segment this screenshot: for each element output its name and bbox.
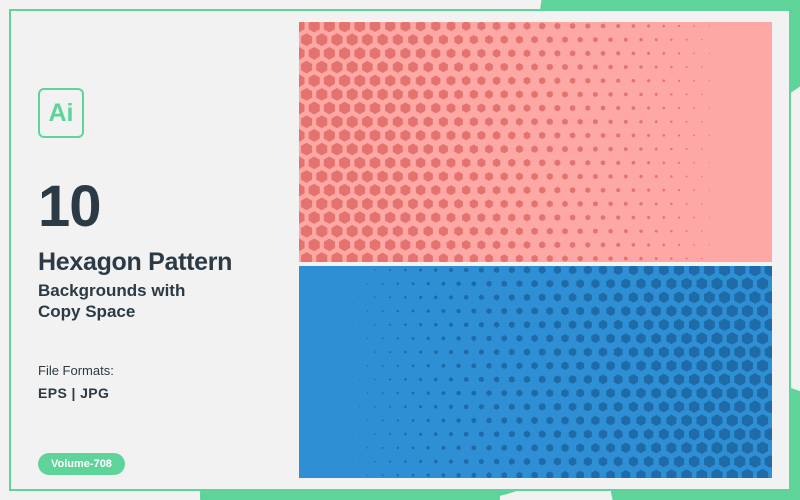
info-column: Ai 10 Hexagon Pattern Backgrounds with C…: [38, 88, 288, 475]
hexagon-dot-grid-pink: [299, 22, 772, 262]
hexagon-dot-grid-blue: [299, 266, 772, 478]
ai-badge-label: Ai: [49, 99, 74, 128]
item-count: 10: [38, 178, 288, 236]
volume-badge: Volume-708: [38, 453, 125, 475]
preview-blue-hexagon-pattern: Hexagon pattern background blue: [299, 266, 772, 478]
page-subtitle-line2: Copy Space: [38, 301, 288, 322]
file-formats-value: EPS | JPG: [38, 385, 288, 401]
page-subtitle-line1: Backgrounds with: [38, 280, 288, 301]
page-title: Hexagon Pattern: [38, 248, 288, 276]
preview-pink-hexagon-pattern: Hexagon pattern background pink: [299, 22, 772, 262]
adobe-illustrator-icon: Ai: [38, 88, 84, 138]
poster-canvas: Ai 10 Hexagon Pattern Backgrounds with C…: [0, 0, 800, 500]
file-formats-label: File Formats:: [38, 363, 288, 378]
